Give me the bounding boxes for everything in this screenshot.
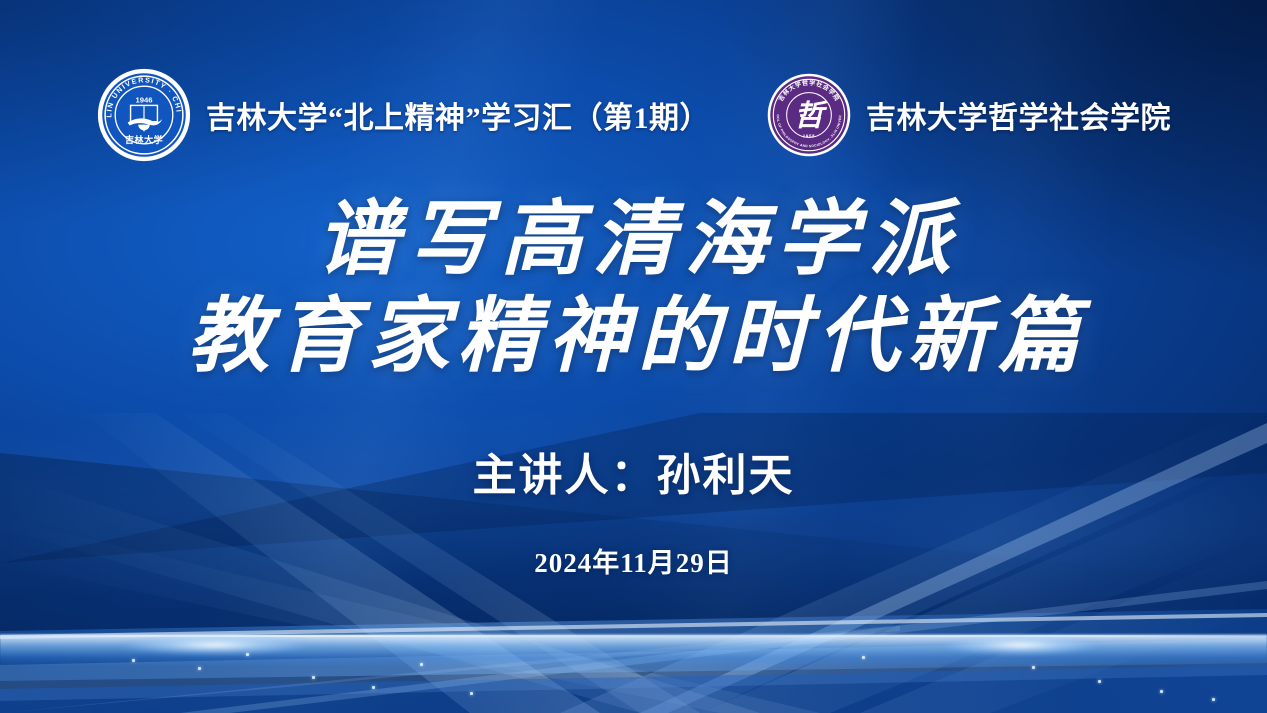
speaker-label: 主讲人：孙利天 [0, 439, 1267, 503]
presentation-title-slide: JILIN UNIVERSITY · CHINA 1946 吉林大学 吉林大学“… [0, 0, 1267, 713]
sparkle-particle [372, 686, 375, 689]
sparkle-particle [420, 663, 423, 666]
main-title-line-1: 谱写高清海学派 [0, 196, 1267, 283]
svg-text:1946: 1946 [135, 96, 152, 105]
brand-jilin-university: JILIN UNIVERSITY · CHINA 1946 吉林大学 吉林大学“… [96, 67, 710, 163]
svg-text:吉林大学: 吉林大学 [125, 134, 163, 146]
sparkle-particle [862, 656, 865, 659]
light-flare-left [120, 635, 310, 655]
title-block: 谱写高清海学派 教育家精神的时代新篇 主讲人：孙利天 2024年11月29日 [0, 196, 1267, 580]
sparkle-particle [246, 653, 249, 656]
svg-text:哲: 哲 [794, 98, 828, 132]
sparkle-particle [1098, 680, 1101, 683]
sparkle-particle [1212, 698, 1215, 701]
jilin-university-seal-logo: JILIN UNIVERSITY · CHINA 1946 吉林大学 [96, 67, 192, 163]
header-branding-row: JILIN UNIVERSITY · CHINA 1946 吉林大学 吉林大学“… [0, 62, 1267, 168]
svg-text:1958: 1958 [803, 133, 815, 138]
main-title-line-2: 教育家精神的时代新篇 [0, 291, 1267, 383]
sparkle-particle [470, 692, 473, 695]
header-left-title: 吉林大学“北上精神”学习汇（第1期） [206, 93, 710, 137]
header-right-title: 吉林大学哲学社会学院 [866, 93, 1171, 137]
light-flare-right [940, 635, 1100, 655]
sparkle-particle [312, 676, 315, 679]
brand-school-of-philosophy: 吉林大学哲学社会学院 SCHOOL OF PHILOSOPHY AND SOCI… [766, 72, 1171, 158]
sparkle-particle [1032, 666, 1035, 669]
school-of-philosophy-and-sociology-logo: 吉林大学哲学社会学院 SCHOOL OF PHILOSOPHY AND SOCI… [766, 72, 852, 158]
sparkle-particle [198, 667, 201, 670]
sparkle-particle [1160, 690, 1163, 693]
date-label: 2024年11月29日 [0, 541, 1267, 580]
sparkle-particle [132, 659, 135, 662]
